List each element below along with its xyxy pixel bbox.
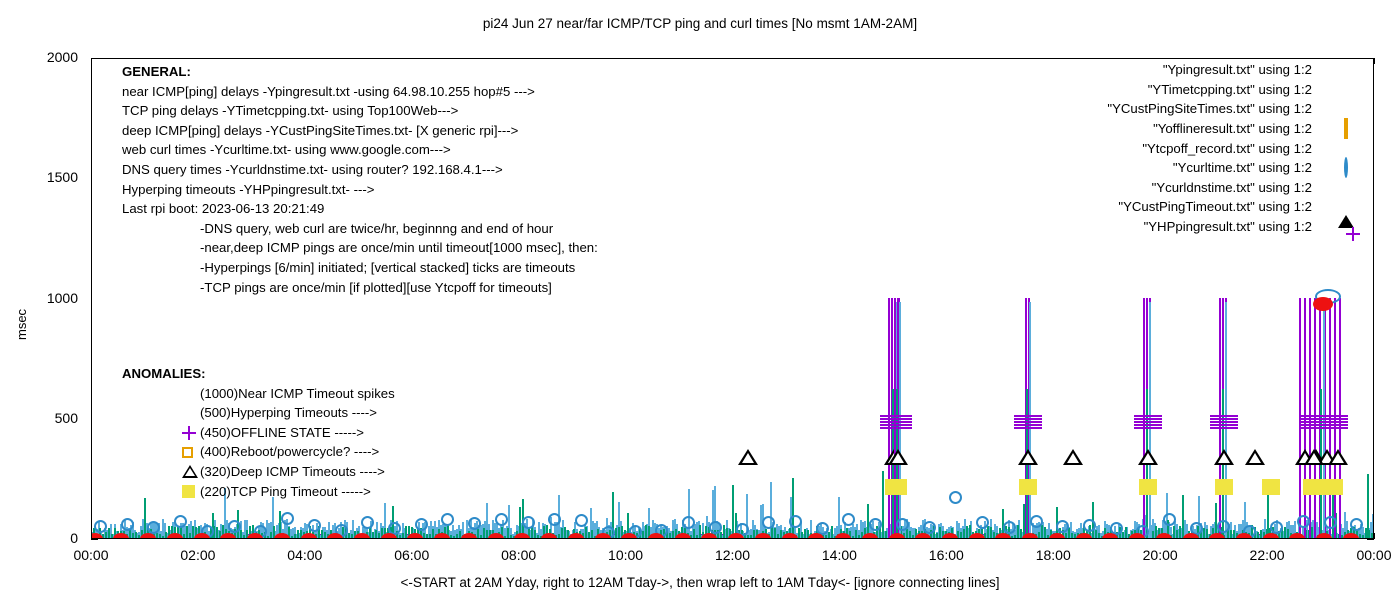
series-tcpping-sample — [615, 528, 617, 538]
anomaly-marker-4 — [182, 465, 198, 478]
series-tcpping-sample — [537, 535, 539, 538]
series-tcpping-sample — [828, 532, 830, 538]
series-tcpping-sample — [135, 532, 137, 538]
legend-entry-1[interactable]: "YTimetcpping.txt" using 1:2 — [1014, 80, 1374, 100]
y-tick-mark — [91, 539, 98, 540]
series-tcpping-sample — [906, 529, 908, 538]
marker-hyperping-timeout — [1300, 421, 1348, 423]
series-tcpping-sample — [1122, 532, 1124, 538]
series-tcpping-sample — [588, 532, 590, 538]
series-tcpping-sample — [450, 535, 452, 538]
marker-dns-query-time — [675, 533, 691, 538]
series-tcpping-sample — [1257, 532, 1259, 538]
series-tcpping-sample — [375, 530, 377, 538]
series-tcpping-sample — [240, 530, 242, 538]
series-tcpping-sample — [324, 532, 326, 538]
series-tcpping-sample — [804, 529, 806, 538]
marker-dns-query-time — [194, 533, 210, 538]
legend-entry-6[interactable]: "Ycurldnstime.txt" using 1:2 — [1014, 178, 1374, 198]
marker-dns-query-time — [247, 533, 263, 538]
legend-entry-5[interactable]: "Ycurltime.txt" using 1:2 — [1014, 158, 1374, 178]
marker-dns-query-time — [461, 533, 477, 538]
legend-key-7 — [1318, 197, 1374, 217]
chart-page: pi24 Jun 27 near/far ICMP/TCP ping and c… — [0, 0, 1400, 600]
x-tick-label-2: 04:00 — [270, 547, 340, 563]
series-tcpping-sample — [426, 534, 428, 538]
marker-tcp-ping-timeout — [1215, 479, 1233, 495]
marker-dns-query-time-outlier — [1313, 297, 1333, 311]
x-tick-label-1: 02:00 — [163, 547, 233, 563]
marker-hyperping-timeout — [1014, 427, 1042, 429]
series-tcpping-sample — [1230, 530, 1232, 538]
marker-curl-time — [1083, 519, 1096, 532]
marker-hyperping-timeout — [1300, 427, 1348, 429]
series-tcpping-sample — [1152, 531, 1154, 538]
legend-key-2 — [1318, 99, 1374, 119]
marker-tcp-ping-timeout — [1303, 479, 1343, 495]
anomaly-label-0: (1000)Near ICMP Timeout spikes — [200, 384, 395, 404]
marker-dns-query-time — [969, 533, 985, 538]
series-tcpping-sample — [321, 530, 323, 538]
anomaly-item-2: (450)OFFLINE STATE -----> — [122, 423, 395, 443]
anomaly-marker-2 — [182, 426, 196, 440]
series-tcpping-sample — [1203, 528, 1205, 538]
series-tcpping-sample — [216, 527, 218, 538]
x-tick-mark-top — [1374, 58, 1375, 64]
marker-dns-query-time — [1156, 533, 1172, 538]
marker-hyperping-timeout — [1210, 415, 1238, 417]
plus-icon — [182, 426, 196, 440]
marker-curl-time — [441, 513, 454, 526]
series-tcpping-sample — [1095, 530, 1097, 538]
x-tick-label-0: 00:00 — [56, 547, 126, 563]
series-tcpping-sample — [855, 530, 857, 538]
marker-curl-time — [682, 516, 695, 529]
series-tcpping-sample — [453, 536, 455, 538]
y-tick-label-500: 500 — [22, 410, 78, 426]
open-triangle-icon — [182, 465, 198, 478]
series-tcpping-sample — [618, 527, 620, 538]
legend-key-0 — [1318, 60, 1374, 80]
legend: "Ypingresult.txt" using 1:2"YTimetcpping… — [1014, 60, 1374, 236]
marker-hyperping-timeout — [884, 415, 912, 417]
legend-label-2: "YCustPingSiteTimes.txt" using 1:2 — [1107, 101, 1312, 116]
marker-deep-icmp-timeout-isolated — [738, 449, 758, 465]
marker-deep-icmp-timeout-isolated — [1063, 449, 1083, 465]
series-tcpping-sample — [645, 525, 647, 538]
y-tick-label-2000: 2000 — [22, 49, 78, 65]
marker-dns-query-time — [301, 533, 317, 538]
marker-hyperping-timeout — [884, 418, 912, 420]
series-tcpping-sample — [534, 530, 536, 538]
marker-hyperping-timeout — [1300, 415, 1348, 417]
marker-hyperping-timeout — [884, 424, 912, 426]
series-tcpping-sample — [294, 534, 296, 538]
series-tcpping-sample — [960, 532, 962, 538]
series-tcpping-sample — [423, 533, 425, 538]
legend-label-1: "YTimetcpping.txt" using 1:2 — [1148, 82, 1312, 97]
legend-label-7: "YCustPingTimeout.txt" using 1:2 — [1118, 199, 1312, 214]
marker-curl-time — [281, 512, 294, 525]
series-tcpping-sample — [372, 532, 374, 538]
series-tcpping-sample — [348, 533, 350, 538]
series-tcpping-sample — [1311, 527, 1313, 538]
marker-curl-time — [121, 518, 134, 531]
general-line-4: DNS query times -Ycurldnstime.txt- using… — [122, 160, 598, 180]
marker-curl-time — [1324, 516, 1337, 529]
series-tcpping-sample — [642, 531, 644, 538]
marker-dns-query-time — [1263, 533, 1279, 538]
series-tcpping-sample — [183, 534, 185, 538]
series-tcpping-sample — [669, 533, 671, 538]
series-tcpping-sample — [564, 527, 566, 538]
marker-hyperping-timeout — [1134, 421, 1162, 423]
legend-label-3: "Yofflineresult.txt" using 1:2 — [1153, 121, 1312, 136]
series-tcpping-sample — [156, 533, 158, 538]
series-tcpping-sample — [750, 535, 752, 538]
marker-deep-icmp-timeout — [1214, 449, 1234, 465]
series-tcpping-sample — [267, 536, 269, 539]
marker-dns-query-time — [488, 533, 504, 538]
marker-curl-time — [94, 520, 107, 533]
series-tcpping-sample — [912, 535, 914, 538]
series-tcpping-sample — [1359, 534, 1361, 538]
legend-label-4: "Ytcpoff_record.txt" using 1:2 — [1142, 141, 1312, 156]
marker-hyperping-timeout — [1210, 427, 1238, 429]
series-tcpping-sample — [456, 534, 458, 538]
marker-dns-query-time — [755, 533, 771, 538]
series-tcpping-sample — [1065, 533, 1067, 538]
x-tick-label-3: 06:00 — [377, 547, 447, 563]
marker-hyperping-timeout — [1300, 424, 1348, 426]
general-note-1: -near,deep ICMP pings are once/min until… — [122, 238, 598, 258]
anomalies-annotation-block: ANOMALIES:(1000)Near ICMP Timeout spikes… — [122, 364, 395, 501]
marker-curl-time — [308, 519, 321, 532]
series-tcpping-sample — [939, 527, 941, 538]
filled-square-icon — [182, 485, 195, 498]
marker-dns-query-time — [648, 533, 664, 538]
series-tcpping-peak — [792, 478, 794, 538]
series-tcpping-sample — [747, 535, 749, 538]
series-tcpping-sample — [144, 498, 146, 538]
series-tcpping-sample — [585, 527, 587, 538]
x-tick-label-9: 18:00 — [1018, 547, 1088, 563]
marker-hyperping-timeout — [1210, 424, 1238, 426]
general-line-6: Last rpi boot: 2023-06-13 20:21:49 — [122, 199, 598, 219]
series-tcpping-sample — [720, 532, 722, 538]
marker-dns-query-time — [381, 533, 397, 538]
marker-deep-icmp-timeout — [1138, 449, 1158, 465]
series-tcpping-sample — [777, 534, 779, 538]
marker-dns-query-time — [568, 533, 584, 538]
legend-entry-0[interactable]: "Ypingresult.txt" using 1:2 — [1014, 60, 1374, 80]
marker-hyperping-timeout — [1014, 421, 1042, 423]
marker-tcp-ping-timeout — [1019, 479, 1037, 495]
series-tcpping-sample — [696, 535, 698, 538]
y-tick-mark-right — [1367, 539, 1374, 540]
series-tcpping-sample — [1038, 532, 1040, 538]
marker-hyperping-timeout — [1014, 424, 1042, 426]
x-tick-label-12: 00:00 — [1339, 547, 1400, 563]
general-line-3: web curl times -Ycurltime.txt- using www… — [122, 140, 598, 160]
series-tcpping-sample — [1173, 526, 1175, 538]
series-tcpping-sample — [159, 534, 161, 538]
marker-hyperping-timeout — [1134, 424, 1162, 426]
x-axis-label: <-START at 2AM Yday, right to 12AM Tday-… — [0, 575, 1400, 590]
marker-hyperping-timeout — [884, 421, 912, 423]
anomaly-label-2: (450)OFFLINE STATE -----> — [200, 423, 364, 443]
marker-deep-icmp-timeout-isolated — [1245, 449, 1265, 465]
marker-tcp-ping-timeout — [1139, 479, 1157, 495]
legend-key-4 — [1318, 138, 1374, 158]
legend-entry-7[interactable]: "YCustPingTimeout.txt" using 1:2 — [1014, 197, 1374, 217]
series-tcpping-sample — [1206, 529, 1208, 538]
series-tcpping-sample — [1071, 533, 1073, 538]
series-tcpping-sample — [483, 528, 485, 538]
marker-curl-time — [976, 516, 989, 529]
legend-entry-4[interactable]: "Ytcpoff_record.txt" using 1:2 — [1014, 138, 1374, 158]
series-tcpping-sample — [909, 531, 911, 538]
marker-curl-time — [1217, 520, 1230, 533]
marker-curl-time — [1350, 518, 1363, 531]
marker-deep-icmp-timeout — [1328, 449, 1348, 465]
series-tcpping-sample — [672, 531, 674, 538]
open-triangle-icon — [1338, 198, 1354, 228]
marker-curl-time — [522, 516, 535, 529]
series-tcpping-sample — [243, 535, 245, 538]
marker-hyperping-timeout — [1014, 415, 1042, 417]
series-tcpping-sample — [723, 525, 725, 538]
general-line-1: TCP ping delays -YTimetcpping.txt- using… — [122, 101, 598, 121]
marker-hyperping-timeout — [1300, 418, 1348, 420]
x-tick-mark — [1374, 533, 1375, 539]
series-tcpping-sample — [1233, 530, 1235, 538]
series-tcpping-sample — [1260, 530, 1262, 538]
y-tick-label-1000: 1000 — [22, 290, 78, 306]
general-heading: GENERAL: — [122, 62, 598, 82]
general-note-0: -DNS query, web curl are twice/hr, begin… — [122, 219, 598, 239]
anomaly-item-1: (500)Hyperping Timeouts ----> — [122, 403, 395, 423]
series-tcpping-sample — [990, 527, 992, 538]
marker-curl-time — [415, 518, 428, 531]
marker-dns-query-time — [541, 533, 557, 538]
legend-entry-3[interactable]: "Yofflineresult.txt" using 1:2 — [1014, 119, 1374, 139]
anomaly-item-5: (220)TCP Ping Timeout -----> — [122, 482, 395, 502]
marker-dns-query-time — [862, 533, 878, 538]
series-tcpping-sample — [108, 528, 110, 538]
anomalies-heading: ANOMALIES: — [122, 364, 395, 384]
marker-deep-icmp-timeout-isolated — [1304, 449, 1324, 465]
series-tcpping-sample — [798, 528, 800, 538]
anomaly-label-1: (500)Hyperping Timeouts ----> — [200, 403, 377, 423]
marker-curl-time — [869, 518, 882, 531]
marker-dns-query-time — [1343, 533, 1359, 538]
series-tcpping-sample — [477, 529, 479, 538]
marker-curl-time — [896, 518, 909, 531]
series-tcpping-sample — [885, 531, 887, 538]
anomaly-item-4: (320)Deep ICMP Timeouts ----> — [122, 462, 395, 482]
y-axis-label: msec — [14, 340, 45, 355]
legend-key-3 — [1318, 119, 1374, 139]
series-tcpping-peak — [1182, 495, 1184, 538]
y-tick-label-0: 0 — [22, 530, 78, 546]
series-tcpping-sample — [852, 536, 854, 538]
series-tcpping-sample — [963, 529, 965, 538]
series-tcpping-sample — [774, 528, 776, 538]
series-tcpping-sample — [351, 534, 353, 538]
series-tcpping-sample — [1041, 525, 1043, 538]
series-tcpping-sample — [1014, 535, 1016, 538]
marker-dns-query-time — [1076, 533, 1092, 538]
marker-hyperping-timeout — [1134, 415, 1162, 417]
marker-dns-query-time — [274, 533, 290, 538]
anomaly-label-3: (400)Reboot/powercycle? ----> — [200, 442, 379, 462]
marker-curl-time — [361, 516, 374, 529]
series-tcpping-sample — [507, 528, 509, 538]
open-square-icon — [1344, 118, 1348, 139]
marker-curl-time — [495, 513, 508, 526]
marker-hyperping-timeout — [1134, 427, 1162, 429]
marker-curl-time — [762, 516, 775, 529]
marker-hyperping-timeout — [884, 427, 912, 429]
series-tcpping-peak — [1367, 474, 1369, 538]
marker-dns-query-time — [1049, 533, 1065, 538]
legend-key-1 — [1318, 80, 1374, 100]
series-tcpping-sample — [561, 528, 563, 538]
series-tcpping-sample — [936, 533, 938, 538]
marker-curl-time — [1030, 515, 1043, 528]
series-tcpping-sample — [1362, 535, 1364, 538]
x-tick-label-7: 14:00 — [804, 547, 874, 563]
series-tcpping-sample — [558, 534, 560, 538]
series-tcpping-sample — [693, 529, 695, 538]
marker-curl-time — [949, 491, 962, 504]
legend-key-6 — [1318, 178, 1374, 198]
series-tcpping-sample — [1284, 527, 1286, 538]
marker-dns-query-time — [1236, 533, 1252, 538]
series-tcpping-sample — [987, 526, 989, 538]
series-tcpping-peak — [732, 485, 734, 538]
series-tcpping-sample — [1179, 526, 1181, 538]
general-line-5: Hyperping timeouts -YHPpingresult.txt- -… — [122, 180, 598, 200]
series-tcpping-sample — [801, 532, 803, 538]
series-tcpping-peak — [882, 471, 884, 538]
legend-label-8: "YHPpingresult.txt" using 1:2 — [1144, 219, 1312, 234]
general-line-2: deep ICMP[ping] delays -YCustPingSiteTim… — [122, 121, 598, 141]
series-tcpping-sample — [1176, 530, 1178, 538]
series-tcpping-sample — [129, 530, 131, 538]
marker-hyperping-timeout — [1134, 418, 1162, 420]
series-tcpping-sample — [831, 526, 833, 538]
marker-curl-time — [228, 520, 241, 533]
series-tcpping-sample — [1125, 527, 1127, 538]
x-tick-label-5: 10:00 — [591, 547, 661, 563]
series-tcpping-sample — [162, 536, 164, 538]
legend-entry-2[interactable]: "YCustPingSiteTimes.txt" using 1:2 — [1014, 99, 1374, 119]
series-tcpping-sample — [1011, 536, 1013, 538]
series-tcpping-sample — [270, 532, 272, 538]
legend-key-5 — [1318, 158, 1374, 178]
marker-deep-icmp-timeout — [888, 449, 908, 465]
anomaly-marker-5 — [182, 485, 195, 498]
x-tick-label-6: 12:00 — [698, 547, 768, 563]
series-tcpping-sample — [1371, 533, 1373, 538]
page-title: pi24 Jun 27 near/far ICMP/TCP ping and c… — [0, 16, 1400, 31]
series-tcpping-sample — [297, 530, 299, 538]
marker-curl-time — [1163, 513, 1176, 526]
anomaly-item-0: (1000)Near ICMP Timeout spikes — [122, 384, 395, 404]
series-tcpping-sample — [429, 534, 431, 538]
marker-dns-query-time — [354, 533, 370, 538]
marker-dns-query-time — [595, 533, 611, 538]
series-tcpping-sample — [399, 535, 401, 538]
series-tcpping-sample — [504, 536, 506, 538]
legend-label-6: "Ycurldnstime.txt" using 1:2 — [1152, 180, 1312, 195]
marker-dns-query-time — [167, 533, 183, 538]
marker-tcp-ping-timeout — [889, 479, 907, 495]
series-tcpping-sample — [1098, 533, 1100, 538]
marker-hyperping-timeout — [1210, 421, 1238, 423]
marker-tcp-ping-timeout — [1262, 479, 1280, 495]
series-tcpping-sample — [858, 535, 860, 538]
general-line-0: near ICMP[ping] delays -Ypingresult.txt … — [122, 82, 598, 102]
marker-dns-query-time — [889, 533, 905, 538]
x-tick-label-11: 22:00 — [1232, 547, 1302, 563]
series-tcpping-sample — [105, 532, 107, 538]
x-tick-label-10: 20:00 — [1125, 547, 1195, 563]
series-tcpping-sample — [1044, 527, 1046, 538]
marker-dns-query-time — [782, 533, 798, 538]
series-tcpping-sample — [966, 526, 968, 538]
anomaly-item-3: (400)Reboot/powercycle? ----> — [122, 442, 395, 462]
series-tcpping-sample — [291, 536, 293, 538]
general-note-3: -TCP pings are once/min [if plotted][use… — [122, 278, 598, 298]
anomaly-label-4: (320)Deep ICMP Timeouts ----> — [200, 462, 385, 482]
series-tcpping-sample — [402, 533, 404, 538]
legend-label-5: "Ycurltime.txt" using 1:2 — [1173, 160, 1312, 175]
legend-label-0: "Ypingresult.txt" using 1:2 — [1163, 62, 1312, 77]
open-square-icon — [182, 447, 193, 458]
series-tcpping-sample — [825, 535, 827, 538]
general-annotation-block: GENERAL:near ICMP[ping] delays -Ypingres… — [122, 62, 598, 297]
marker-dns-query-time — [1183, 533, 1199, 538]
open-circle-icon — [1344, 157, 1348, 178]
series-tcpping-sample — [132, 533, 134, 538]
series-tcpping-sample — [1017, 525, 1019, 538]
series-tcpping-sample — [591, 530, 593, 538]
general-note-2: -Hyperpings [6/min] initiated; [vertical… — [122, 258, 598, 278]
series-tcpping-sample — [186, 526, 188, 538]
y-tick-label-1500: 1500 — [22, 169, 78, 185]
marker-hyperping-timeout — [1014, 418, 1042, 420]
marker-curl-time — [468, 517, 481, 530]
anomaly-label-5: (220)TCP Ping Timeout -----> — [200, 482, 371, 502]
series-tcpping-sample — [480, 535, 482, 538]
marker-hyperping-timeout — [1210, 418, 1238, 420]
anomaly-marker-3 — [182, 447, 193, 458]
series-tcpping-sample — [1068, 528, 1070, 538]
marker-dns-query-time — [942, 533, 958, 538]
series-tcpping-peak — [1267, 488, 1269, 538]
x-tick-label-8: 16:00 — [911, 547, 981, 563]
series-tcpping-sample — [189, 533, 191, 538]
x-tick-label-4: 08:00 — [484, 547, 554, 563]
legend-entry-8[interactable]: "YHPpingresult.txt" using 1:2 — [1014, 217, 1374, 237]
marker-deep-icmp-timeout — [1018, 449, 1038, 465]
series-tcpping-sample — [378, 533, 380, 538]
series-tcpping-sample — [510, 535, 512, 538]
